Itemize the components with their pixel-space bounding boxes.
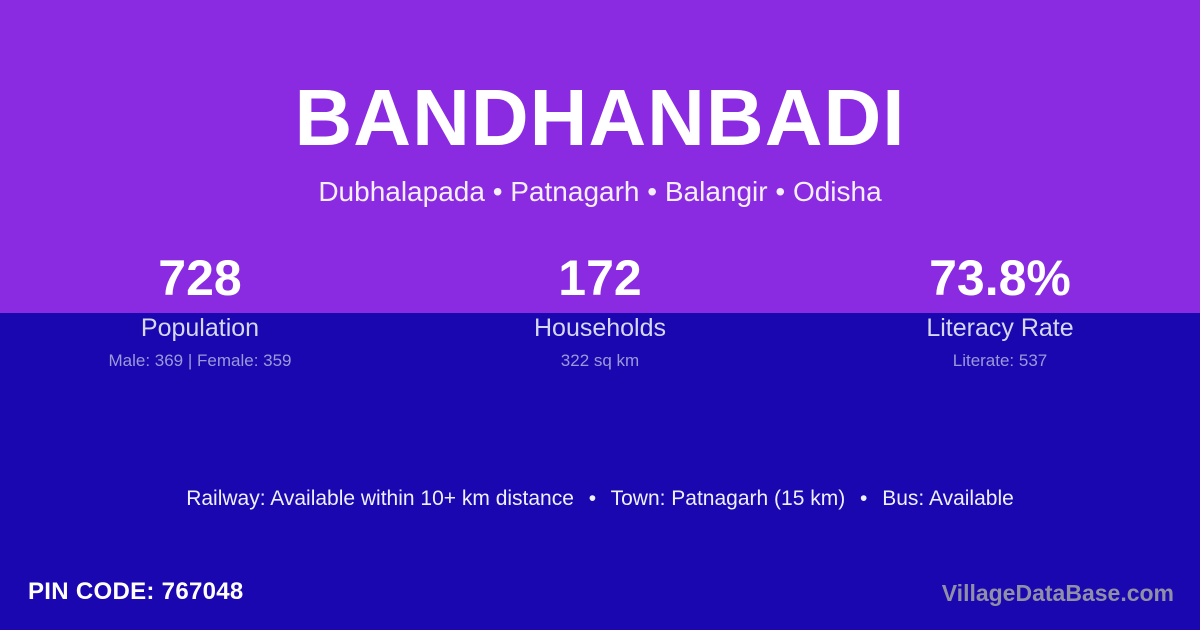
card-footer: PIN CODE: 767048 VillageDataBase.com bbox=[0, 572, 1200, 630]
stat-sublabel: Literate: 537 bbox=[800, 351, 1200, 371]
stat-sublabel: 322 sq km bbox=[400, 351, 800, 371]
village-info-card: BANDHANBADI Dubhalapada • Patnagarh • Ba… bbox=[0, 0, 1200, 630]
stat-value: 728 bbox=[0, 252, 400, 304]
page-title: BANDHANBADI bbox=[0, 0, 1200, 158]
infra-item-bus: Bus: Available bbox=[882, 487, 1014, 510]
infra-item-railway: Railway: Available within 10+ km distanc… bbox=[186, 487, 574, 510]
stat-value: 73.8% bbox=[800, 252, 1200, 304]
card-header: BANDHANBADI Dubhalapada • Patnagarh • Ba… bbox=[0, 0, 1200, 206]
breadcrumb: Dubhalapada • Patnagarh • Balangir • Odi… bbox=[0, 158, 1200, 206]
stat-population: 728 Population Male: 369 | Female: 359 bbox=[0, 252, 400, 371]
stat-value: 172 bbox=[400, 252, 800, 304]
stats-row: 728 Population Male: 369 | Female: 359 1… bbox=[0, 252, 1200, 371]
infra-item-town: Town: Patnagarh (15 km) bbox=[611, 487, 846, 510]
stat-sublabel: Male: 369 | Female: 359 bbox=[0, 351, 400, 371]
infra-separator: • bbox=[851, 484, 876, 514]
infra-separator: • bbox=[580, 484, 605, 514]
stat-literacy-rate: 73.8% Literacy Rate Literate: 537 bbox=[800, 252, 1200, 371]
infrastructure-line: Railway: Available within 10+ km distanc… bbox=[0, 484, 1200, 514]
stat-label: Households bbox=[400, 314, 800, 342]
stat-households: 172 Households 322 sq km bbox=[400, 252, 800, 371]
site-watermark: VillageDataBase.com bbox=[942, 578, 1174, 608]
stat-label: Literacy Rate bbox=[800, 314, 1200, 342]
stat-label: Population bbox=[0, 314, 400, 342]
pin-code: PIN CODE: 767048 bbox=[28, 577, 244, 607]
